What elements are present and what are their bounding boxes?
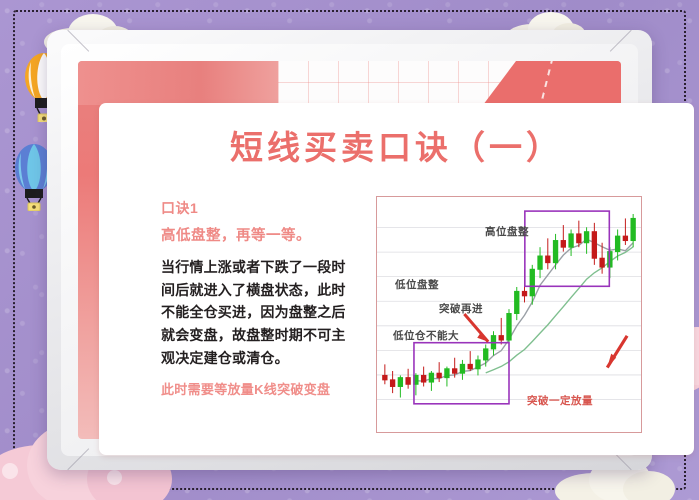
lesson-footnote: 此时需要等放量K线突破变盘 [161, 379, 356, 398]
annotation-high-consolidation: 高位盘整 [485, 224, 529, 239]
chart-reentry-arrow [464, 314, 488, 342]
chart-breakout-arrow [607, 336, 627, 368]
annotation-breakout-volume: 突破一定放量 [527, 393, 593, 408]
mat-texture [78, 61, 283, 105]
annotation-breakout-reentry: 突破再进 [439, 301, 483, 316]
lesson-text-column: 口诀1 高低盘整，再等一等。 当行情上涨或者下跌了一段时间后就进入了横盘状态，此… [161, 198, 356, 398]
candlestick-chart: 高位盘整 低位盘整 突破再进 低位仓不能大 突破一定放量 [376, 196, 642, 433]
annotation-low-position-small: 低位仓不能大 [393, 328, 459, 343]
content-card: 短线买卖口诀（一） 口诀1 高低盘整，再等一等。 当行情上涨或者下跌了一段时间后… [99, 103, 694, 455]
lesson-label: 口诀1 [161, 198, 356, 218]
page-title: 短线买卖口诀（一） [99, 121, 694, 169]
lesson-slogan: 高低盘整，再等一等。 [161, 224, 356, 245]
lesson-body: 当行情上涨或者下跌了一段时间后就进入了横盘状态，此时不能全仓买进，因为盘整之后就… [161, 256, 356, 369]
picture-frame: 短线买卖口诀（一） 口诀1 高低盘整，再等一等。 当行情上涨或者下跌了一段时间后… [47, 30, 652, 470]
annotation-low-consolidation: 低位盘整 [395, 277, 439, 292]
